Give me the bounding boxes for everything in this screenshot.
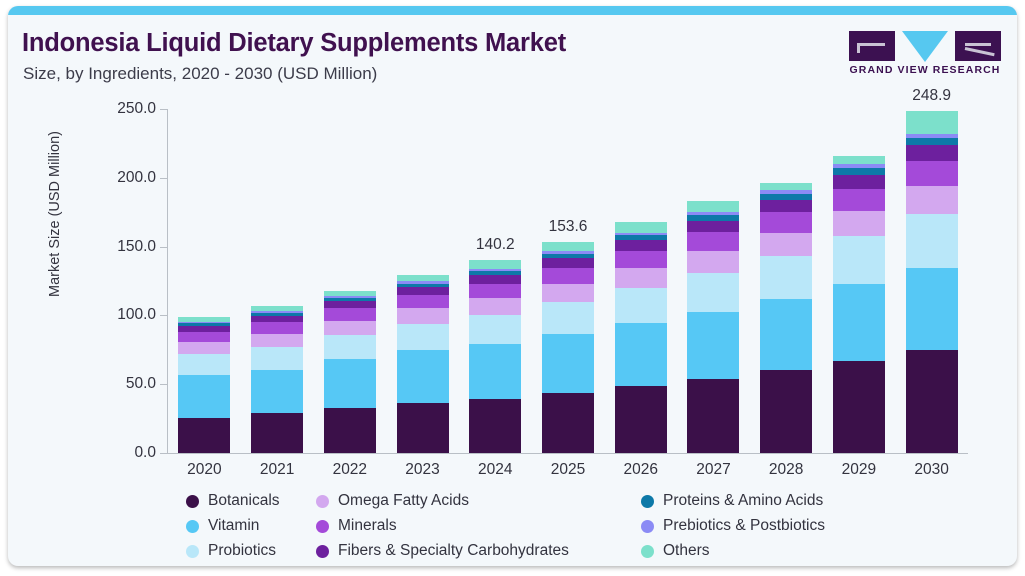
x-tick-label: 2029 [842, 461, 876, 479]
legend-swatch-icon [641, 495, 654, 508]
x-tick-label: 2025 [551, 461, 585, 479]
bar-segment[interactable] [906, 350, 958, 453]
bar-segment[interactable] [251, 347, 303, 370]
y-tick-mark [160, 453, 168, 454]
stacked-bar[interactable] [469, 260, 521, 453]
bar-segment[interactable] [542, 334, 594, 393]
bar-segment[interactable] [615, 240, 667, 250]
bar-segment[interactable] [906, 214, 958, 267]
chart-legend: BotanicalsVitaminProbioticsOmega Fatty A… [186, 492, 986, 564]
bar-segment[interactable] [687, 232, 739, 251]
y-axis-tick-labels: 0.050.0100.0150.0200.0250.0 [60, 6, 156, 566]
bar-segment[interactable] [687, 221, 739, 233]
legend-label: Omega Fatty Acids [338, 492, 469, 510]
bar-column[interactable] [906, 109, 958, 453]
logo-r-bar-h [965, 43, 991, 46]
bar-column[interactable] [687, 109, 739, 453]
bar-segment[interactable] [906, 186, 958, 214]
bar-segment[interactable] [833, 175, 885, 189]
bar-segment[interactable] [324, 359, 376, 408]
bar-column[interactable] [251, 109, 303, 453]
plot-area [168, 109, 968, 453]
bar-column[interactable] [615, 109, 667, 453]
stacked-bar[interactable] [542, 242, 594, 453]
bar-segment[interactable] [760, 183, 812, 190]
legend-label: Minerals [338, 517, 397, 535]
bar-segment[interactable] [469, 344, 521, 399]
bar-segment[interactable] [760, 299, 812, 370]
bar-segment[interactable] [397, 350, 449, 403]
bar-segment[interactable] [251, 370, 303, 414]
legend-swatch-icon [186, 495, 199, 508]
stacked-bar[interactable] [397, 275, 449, 453]
bar-segment[interactable] [906, 145, 958, 161]
bar-column[interactable] [178, 109, 230, 453]
bar-segment[interactable] [833, 211, 885, 236]
bar-segment[interactable] [833, 189, 885, 212]
bar-segment[interactable] [178, 354, 230, 375]
bar-segment[interactable] [178, 332, 230, 342]
bar-segment[interactable] [397, 308, 449, 323]
bar-column[interactable] [324, 109, 376, 453]
bar-segment[interactable] [178, 418, 230, 453]
legend-item[interactable]: Vitamin [186, 517, 259, 535]
bar-segment[interactable] [542, 284, 594, 302]
bar-segment[interactable] [906, 138, 958, 145]
bar-segment[interactable] [615, 288, 667, 324]
bar-segment[interactable] [542, 258, 594, 267]
logo-g-block-icon [849, 31, 895, 61]
bar-segment[interactable] [760, 200, 812, 213]
stacked-bar[interactable] [615, 222, 667, 453]
logo-g-bar-v [857, 43, 860, 53]
bar-value-label: 248.9 [912, 87, 951, 105]
bar-segment[interactable] [833, 284, 885, 361]
bar-column[interactable] [760, 109, 812, 453]
top-accent-bar [8, 6, 1017, 15]
stacked-bar[interactable] [687, 201, 739, 453]
bar-segment[interactable] [687, 273, 739, 312]
legend-item[interactable]: Probiotics [186, 542, 276, 560]
bar-segment[interactable] [687, 201, 739, 213]
logo-v-triangle-icon [902, 31, 948, 62]
stacked-bar[interactable] [178, 317, 230, 453]
bar-column[interactable] [397, 109, 449, 453]
bar-segment[interactable] [615, 323, 667, 386]
bar-segment[interactable] [687, 251, 739, 272]
legend-swatch-icon [186, 520, 199, 533]
bar-segment[interactable] [324, 408, 376, 453]
x-tick-label: 2030 [914, 461, 948, 479]
bar-segment[interactable] [760, 256, 812, 299]
bar-segment[interactable] [469, 275, 521, 284]
stacked-bar[interactable] [833, 156, 885, 453]
legend-label: Proteins & Amino Acids [663, 492, 823, 510]
x-tick-label: 2023 [405, 461, 439, 479]
bar-segment[interactable] [397, 295, 449, 308]
logo-marks [849, 31, 1001, 61]
bar-segment[interactable] [906, 111, 958, 134]
bar-segment[interactable] [324, 335, 376, 359]
legend-item[interactable]: Fibers & Specialty Carbohydrates [316, 542, 569, 560]
x-tick-label: 2027 [696, 461, 730, 479]
legend-item[interactable]: Proteins & Amino Acids [641, 492, 823, 510]
bar-segment[interactable] [324, 321, 376, 335]
bar-segment[interactable] [397, 324, 449, 351]
logo-wordmark: GRAND VIEW RESEARCH [849, 64, 1001, 76]
y-tick-label: 100.0 [66, 306, 156, 324]
y-tick-label: 0.0 [66, 444, 156, 462]
chart-card: Indonesia Liquid Dietary Supplements Mar… [8, 6, 1017, 566]
bar-segment[interactable] [324, 308, 376, 320]
bar-segment[interactable] [397, 403, 449, 453]
bar-segment[interactable] [615, 386, 667, 453]
x-tick-label: 2026 [623, 461, 657, 479]
y-tick-label: 50.0 [66, 375, 156, 393]
bar-segment[interactable] [324, 301, 376, 308]
legend-swatch-icon [316, 545, 329, 558]
y-tick-label: 150.0 [66, 238, 156, 256]
y-tick-mark [160, 178, 168, 179]
bar-segment[interactable] [469, 298, 521, 315]
bar-segment[interactable] [251, 413, 303, 453]
legend-label: Probiotics [208, 542, 276, 560]
legend-label: Botanicals [208, 492, 280, 510]
x-axis-line [167, 453, 968, 454]
bar-column[interactable] [833, 109, 885, 453]
bar-segment[interactable] [833, 168, 885, 175]
logo-g-bar-h [857, 43, 885, 46]
y-tick-mark [160, 109, 168, 110]
legend-label: Prebiotics & Postbiotics [663, 517, 825, 535]
legend-item[interactable]: Others [641, 542, 710, 560]
x-tick-label: 2021 [260, 461, 294, 479]
stacked-bar[interactable] [906, 111, 958, 453]
bar-segment[interactable] [906, 161, 958, 186]
logo-r-block-icon [955, 31, 1001, 61]
y-tick-mark [160, 315, 168, 316]
bar-segment[interactable] [178, 342, 230, 354]
bar-segment[interactable] [469, 315, 521, 344]
bar-segment[interactable] [833, 156, 885, 164]
legend-label: Others [663, 542, 710, 560]
bar-segment[interactable] [469, 399, 521, 453]
bar-segment[interactable] [615, 222, 667, 233]
legend-label: Vitamin [208, 517, 259, 535]
y-tick-mark [160, 384, 168, 385]
bar-segment[interactable] [178, 375, 230, 418]
bar-segment[interactable] [469, 260, 521, 269]
bar-segment[interactable] [469, 284, 521, 299]
stacked-bar[interactable] [324, 291, 376, 453]
legend-item[interactable]: Omega Fatty Acids [316, 492, 469, 510]
y-tick-label: 200.0 [66, 169, 156, 187]
bar-value-label: 153.6 [549, 218, 588, 236]
bar-segment[interactable] [760, 370, 812, 453]
bar-segment[interactable] [760, 233, 812, 256]
bar-segment[interactable] [906, 268, 958, 350]
bar-segment[interactable] [760, 212, 812, 233]
bar-value-label: 140.2 [476, 236, 515, 254]
legend-item[interactable]: Prebiotics & Postbiotics [641, 517, 825, 535]
bar-segment[interactable] [397, 287, 449, 295]
bar-segment[interactable] [833, 236, 885, 284]
bar-segment[interactable] [251, 322, 303, 333]
bar-segment[interactable] [542, 393, 594, 453]
bar-segment[interactable] [687, 379, 739, 453]
y-tick-mark [160, 247, 168, 248]
bar-segment[interactable] [687, 312, 739, 379]
bar-segment[interactable] [542, 242, 594, 251]
x-tick-label: 2022 [333, 461, 367, 479]
legend-swatch-icon [316, 495, 329, 508]
bar-column[interactable] [542, 109, 594, 453]
grand-view-research-logo: GRAND VIEW RESEARCH [849, 31, 1001, 79]
bar-segment[interactable] [833, 361, 885, 453]
bar-column[interactable] [469, 109, 521, 453]
bar-segment[interactable] [251, 334, 303, 347]
x-tick-label: 2024 [478, 461, 512, 479]
x-tick-label: 2020 [187, 461, 221, 479]
bar-segment[interactable] [615, 268, 667, 288]
legend-swatch-icon [186, 545, 199, 558]
stacked-bar[interactable] [251, 306, 303, 453]
legend-swatch-icon [641, 545, 654, 558]
legend-swatch-icon [316, 520, 329, 533]
y-tick-label: 250.0 [66, 100, 156, 118]
legend-label: Fibers & Specialty Carbohydrates [338, 542, 569, 560]
stacked-bar[interactable] [760, 183, 812, 453]
bar-segment[interactable] [542, 268, 594, 284]
x-tick-label: 2028 [769, 461, 803, 479]
bar-segment[interactable] [615, 251, 667, 268]
legend-swatch-icon [641, 520, 654, 533]
bar-segment[interactable] [542, 302, 594, 334]
legend-item[interactable]: Botanicals [186, 492, 280, 510]
legend-item[interactable]: Minerals [316, 517, 397, 535]
